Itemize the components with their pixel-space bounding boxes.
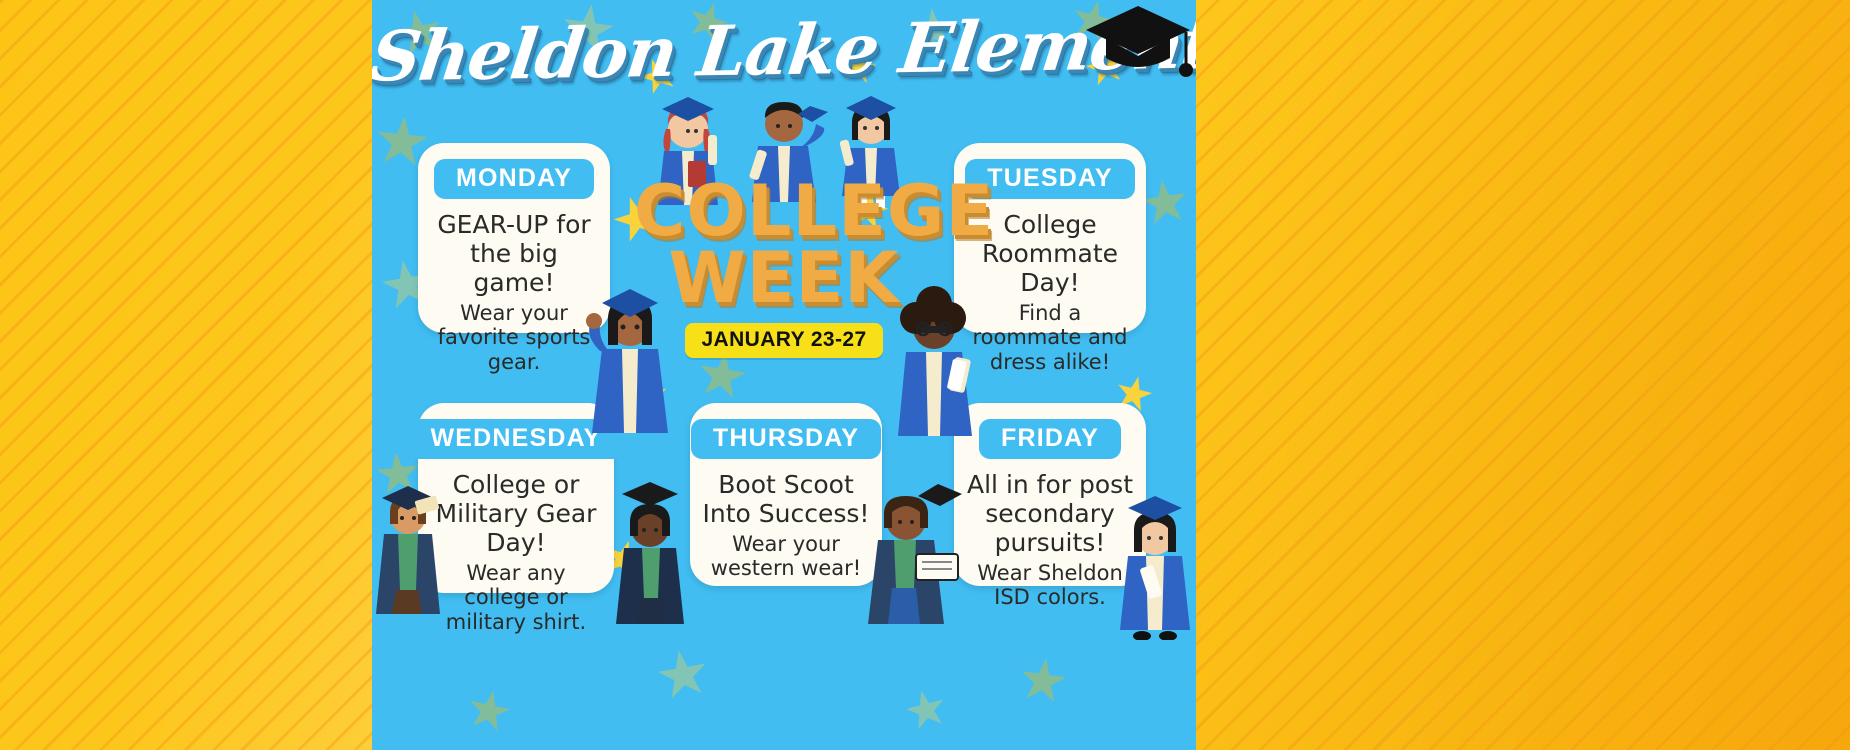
date-badge: JANUARY 23-27 [685, 323, 882, 358]
star-icon [1139, 177, 1191, 229]
day-card-thursday: THURSDAY Boot Scoot Into Success! Wear y… [690, 403, 882, 586]
day-subline-friday: Wear Sheldon ISD colors. [966, 561, 1134, 610]
page-title: Sheldon Lake Elementary [372, 0, 1196, 106]
day-label-friday: FRIDAY [979, 419, 1121, 459]
star-icon [902, 686, 950, 734]
graduate-figure-icon [862, 470, 962, 630]
day-subline-monday: Wear your favorite sports gear. [430, 301, 598, 374]
day-headline-monday: GEAR-UP for the big game! [430, 210, 598, 297]
star-icon [654, 646, 712, 704]
event-title-line2: WEEK [634, 245, 934, 312]
graduate-figure-icon [372, 472, 452, 620]
day-card-monday: MONDAY GEAR-UP for the big game! Wear yo… [418, 143, 610, 333]
star-icon [464, 686, 514, 736]
day-subline-tuesday: Find a roommate and dress alike! [966, 301, 1134, 374]
flyer-page: Sheldon Lake Elementary [0, 0, 1850, 750]
day-subline-thursday: Wear your western wear! [702, 532, 870, 581]
star-icon [1017, 655, 1069, 707]
graduate-figure-icon [610, 480, 692, 630]
event-title-block: COLLEGE WEEK JANUARY 23-27 [634, 88, 934, 358]
day-subline-wednesday: Wear any college or military shirt. [430, 561, 602, 634]
graduation-cap-icon [1082, 0, 1194, 96]
event-title: COLLEGE WEEK [634, 88, 934, 311]
graduate-figure-icon [1114, 490, 1196, 640]
flyer-canvas: Sheldon Lake Elementary [372, 0, 1196, 750]
day-headline-friday: All in for post secondary pursuits! [966, 470, 1134, 557]
day-headline-thursday: Boot Scoot Into Success! [702, 470, 870, 528]
header: Sheldon Lake Elementary [372, 2, 1196, 102]
day-label-thursday: THURSDAY [691, 419, 881, 459]
day-headline-wednesday: College or Military Gear Day! [430, 470, 602, 557]
day-label-monday: MONDAY [434, 159, 594, 199]
